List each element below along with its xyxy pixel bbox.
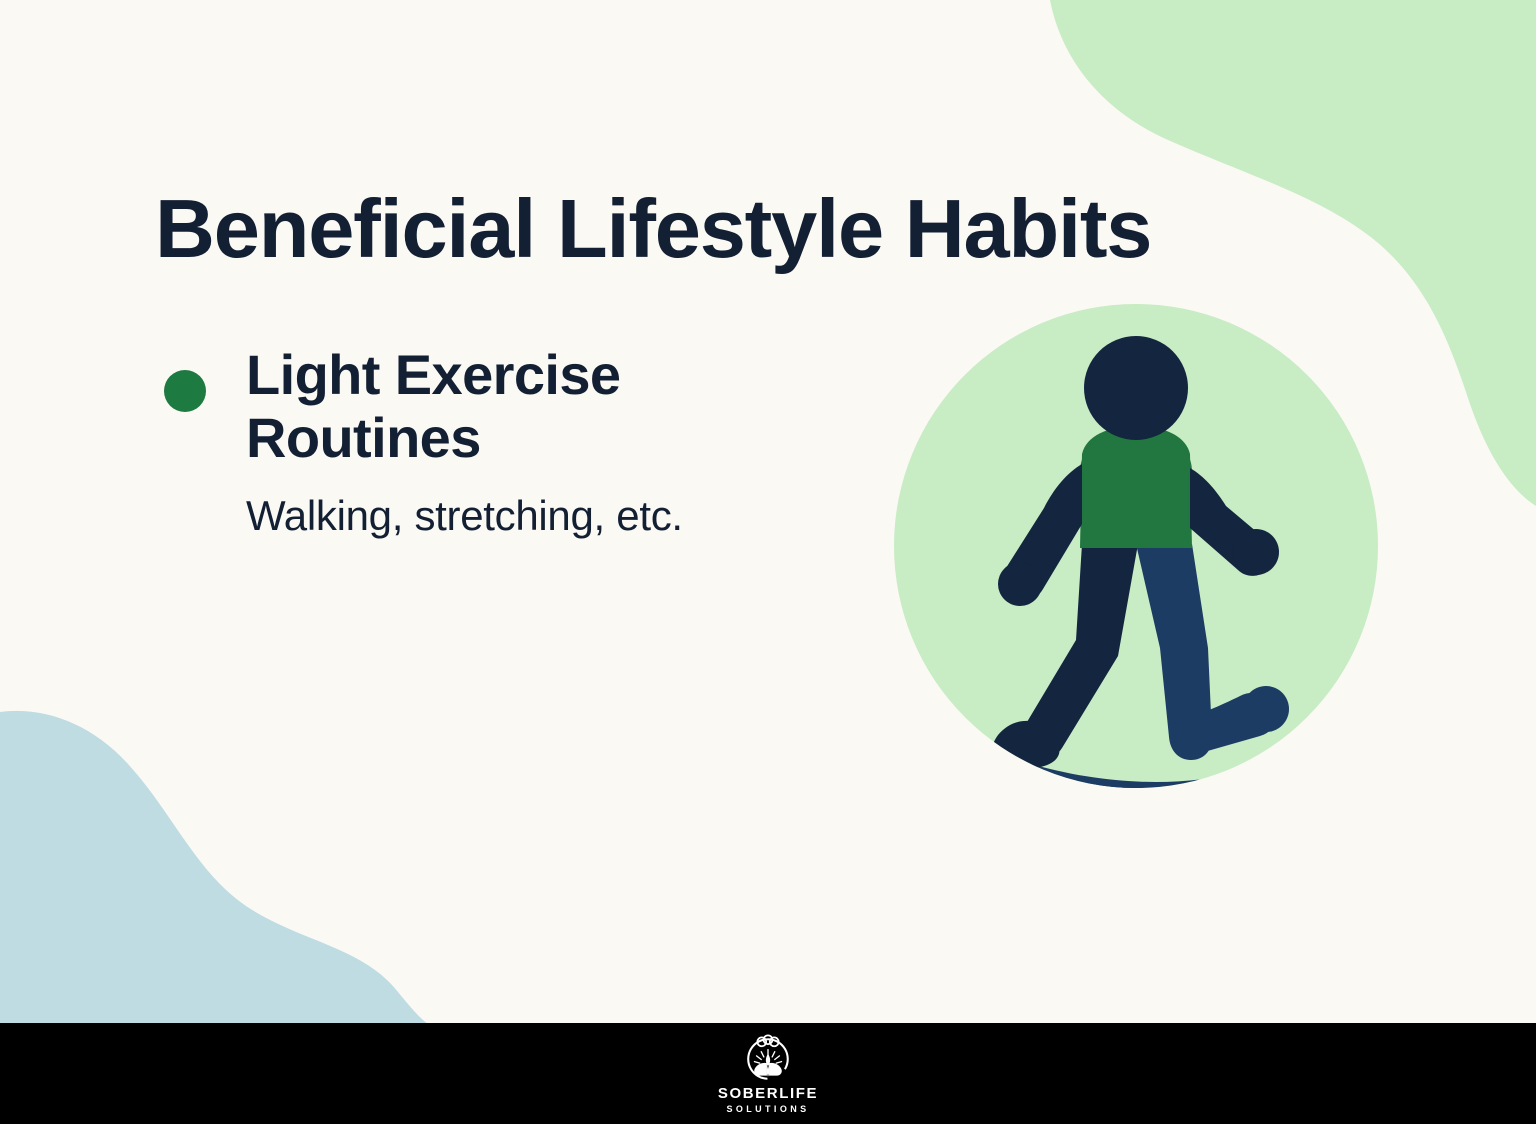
footer-tagline: SOLUTIONS (726, 1105, 809, 1114)
bullet-text-block: Light Exercise Routines Walking, stretch… (246, 344, 878, 542)
page-title: Beneficial Lifestyle Habits (155, 187, 1355, 270)
bullet-subtext: Walking, stretching, etc. (246, 491, 878, 541)
bullet-dot-icon (164, 370, 206, 412)
slide: Beneficial Lifestyle Habits Light Exerci… (0, 0, 1536, 1124)
footer-bar: SOBERLIFE SOLUTIONS (0, 1023, 1536, 1124)
head (1084, 336, 1188, 440)
front-hand (1233, 529, 1279, 575)
front-toe (1243, 686, 1289, 732)
soberlife-emblem-icon (742, 1033, 794, 1085)
bottom-left-blue-blob (0, 711, 430, 1024)
rear-hand (998, 562, 1042, 606)
footer-brand-name: SOBERLIFE (718, 1086, 818, 1101)
walking-person-illustration (886, 296, 1386, 796)
bullet-heading: Light Exercise Routines (246, 344, 766, 469)
bullet-item: Light Exercise Routines Walking, stretch… (158, 344, 878, 542)
